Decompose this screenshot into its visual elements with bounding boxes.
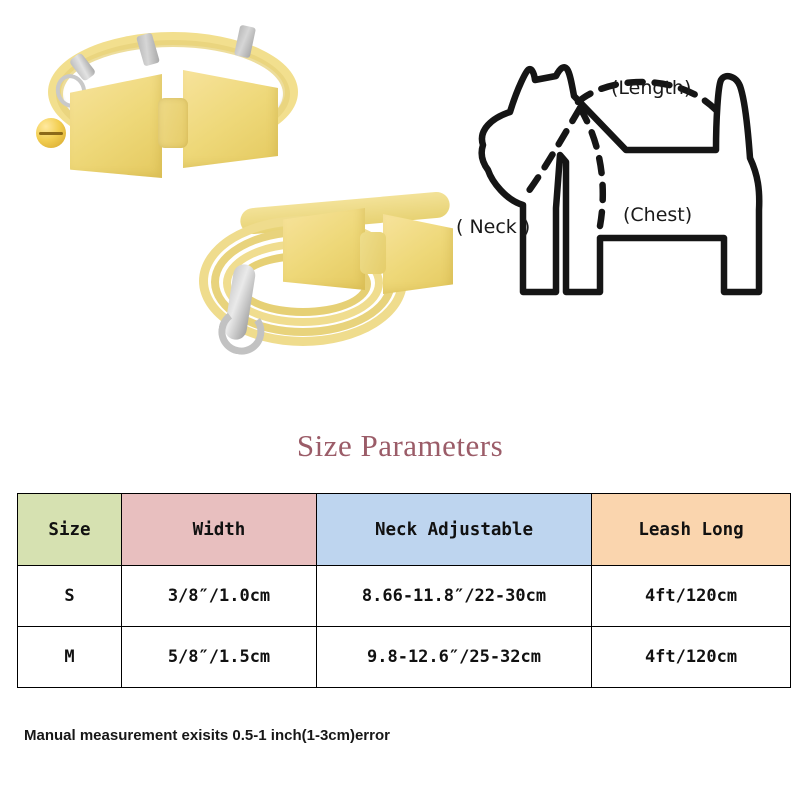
table-row: S 3/8″/1.0cm 8.66-11.8″/22-30cm 4ft/120c… (18, 566, 791, 627)
page-title: Size Parameters (0, 428, 800, 464)
dog-outline-icon (448, 30, 793, 330)
collar-product-photo (18, 18, 323, 208)
cell-width: 5/8″/1.5cm (122, 627, 317, 688)
cell-leash: 4ft/120cm (592, 566, 791, 627)
size-parameters-table: Size Width Neck Adjustable Leash Long S … (17, 493, 791, 688)
column-header-neck: Neck Adjustable (317, 494, 592, 566)
product-photo-area: (Length) (Chest) ( Neck ) (0, 0, 800, 400)
bow-wing-left (283, 208, 365, 290)
bow-knot (158, 98, 188, 148)
cell-size: S (18, 566, 122, 627)
diagram-label-neck: ( Neck ) (456, 216, 530, 238)
bow-knot (360, 232, 386, 274)
diagram-label-length: (Length) (611, 77, 691, 99)
diagram-label-chest: (Chest) (623, 204, 692, 226)
cell-neck: 9.8-12.6″/25-32cm (317, 627, 592, 688)
column-header-size: Size (18, 494, 122, 566)
cell-size: M (18, 627, 122, 688)
table-row: M 5/8″/1.5cm 9.8-12.6″/25-32cm 4ft/120cm (18, 627, 791, 688)
bell-icon (36, 118, 66, 148)
table-header-row: Size Width Neck Adjustable Leash Long (18, 494, 791, 566)
cell-neck: 8.66-11.8″/22-30cm (317, 566, 592, 627)
dog-measurement-diagram: (Length) (Chest) ( Neck ) (448, 30, 793, 330)
cell-leash: 4ft/120cm (592, 627, 791, 688)
column-header-width: Width (122, 494, 317, 566)
bow-wing-right (383, 214, 453, 294)
column-header-leash: Leash Long (592, 494, 791, 566)
cell-width: 3/8″/1.0cm (122, 566, 317, 627)
leash-product-photo (185, 192, 450, 377)
product-size-chart-page: (Length) (Chest) ( Neck ) Size Parameter… (0, 0, 800, 800)
measurement-disclaimer: Manual measurement exisits 0.5-1 inch(1-… (24, 727, 390, 744)
